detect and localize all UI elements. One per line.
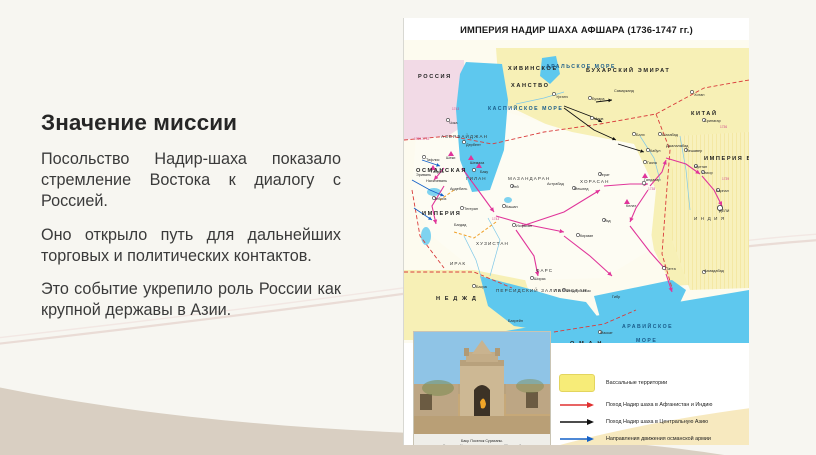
fire-temple-illustration (414, 332, 550, 434)
map-sea-label-0: КАСПИЙСКОЕ МОРЕ (488, 104, 563, 112)
map-city-label-5: Баку (480, 170, 488, 174)
map-region-label-2: ХОРАСАН (580, 179, 610, 184)
photo-caption-line-2: Комплекс Храма огнепоклонников – "Атешгя… (443, 444, 521, 445)
map-country-label-7: Н Е Д Ж Д (436, 296, 477, 302)
map-region-label-6: АЗЕРБАЙДЖАН (441, 132, 488, 139)
legend-key-vassal (559, 374, 599, 392)
legend-item-central-asia: Поход Надир шаха в Центральную Азию (559, 413, 749, 430)
map-country-label-6: ИМПЕРИЯ (422, 211, 461, 217)
map-city-label-15: Хотан (694, 93, 704, 97)
map-city-label-31: Астрабад (547, 182, 565, 186)
presentation-slide: Значение миссии Посольство Надир-шаха по… (0, 0, 816, 455)
map-city-label-42: Гибр (612, 295, 620, 299)
body-paragraph-3: Это событие укрепило роль России как кру… (41, 279, 341, 321)
map-date-label-4: 1739 (722, 177, 729, 181)
map-city-label-30: Мешхед (574, 187, 589, 191)
legend-key-central-asia (559, 418, 599, 426)
vassal-territory-swatch (559, 374, 595, 392)
map-date-label-1: 1735-1743 (414, 137, 429, 141)
legend-key-ottoman-army (559, 435, 599, 443)
map-region-label-3: ХУЗИСТАН (476, 241, 509, 246)
legend-item-ottoman-army: Направления движения османской армии (559, 430, 749, 445)
map-city-label-14: Мерв (594, 117, 603, 121)
map-city-label-1: Дербент (466, 143, 481, 147)
map-city-label-25: Гандахар (644, 178, 660, 182)
map-region-label-0: ГИЛАН (466, 176, 487, 181)
map-sea-label-1: АРАВИЙСКОЕ (622, 322, 673, 330)
map-region-label-9: И Н Д И Я (694, 216, 725, 221)
map-city-label-28: Келат (626, 204, 636, 208)
blue-arrow-icon (559, 435, 595, 443)
map-city-label-13: Бухара (592, 97, 605, 101)
map-country-label-8: О М А Н (570, 341, 603, 343)
map-country-label-9: ИМПЕРИЯ ВЕЛИКИХ МОГОЛОВ (704, 156, 749, 162)
ateshgah-photo: Баку. Поселок Сураханы. Комплекс Храма о… (413, 331, 551, 445)
map-city-label-44: Маскат (600, 331, 613, 335)
map-date-label-2: 1743 (492, 217, 499, 221)
map-city-label-10: Ардебиль (450, 187, 467, 191)
legend-item-afghan-india: Поход Надир шаха в Афганистан и Индию (559, 396, 749, 413)
map-canvas: РОССИЯХИВИНСКОЕХАНСТВОБУХАРСКИЙ ЭМИРАТКИ… (404, 40, 749, 343)
map-city-label-24: Лахор (702, 171, 713, 175)
map-city-label-22: Газна (647, 161, 658, 165)
map-city-label-18: Сринагар (704, 119, 721, 123)
map-city-label-27: ДЕЛИ (719, 209, 730, 213)
map-country-label-4: КИТАЙ (691, 109, 718, 117)
map-region-label-5: ФАРС (536, 268, 553, 273)
map-country-label-0: РОССИЯ (418, 74, 452, 80)
map-city-label-12: Самарканд (614, 89, 635, 93)
legend-label-ottoman-army: Направления движения османской армии (606, 436, 711, 442)
map-city-label-2: Тифлис (426, 158, 440, 162)
map-graphic: РОССИЯХИВИНСКОЕХАНСТВОБУХАРСКИЙ ЭМИРАТКИ… (404, 40, 749, 343)
map-city-label-3: Шеки (446, 156, 455, 160)
map-city-label-29: Герат (600, 173, 610, 177)
legend-label-central-asia: Поход Надир шаха в Центральную Азию (606, 419, 708, 425)
map-sea-label-2: МОРЕ (636, 338, 657, 343)
map-city-label-16: Балх (636, 133, 645, 137)
map-city-label-19: Кабул (650, 149, 660, 153)
map-city-label-46: Ахмадабад (704, 269, 725, 273)
map-sea-label-3: АРАЛЬСКОЕ МОРЕ (546, 64, 616, 70)
map-date-label-5: 1736 (720, 125, 727, 129)
map-city-label-43: Бахрейн (508, 319, 523, 323)
map-legend: Вассальные территории Поход Надир шаха в… (559, 370, 749, 445)
map-city-label-33: Тегеран (464, 207, 478, 211)
map-city-label-45: Татта (666, 267, 677, 271)
map-city-label-36: Багдад (454, 223, 467, 227)
map-city-label-35: Исфахан (516, 224, 532, 228)
map-date-label-3: 1738 (648, 187, 655, 191)
map-city-label-6: Гянджа (431, 170, 445, 174)
map-city-label-9: Тебриз (434, 197, 447, 201)
map-region-label-7: ПЕРСИДСКИЙ ЗАЛИВ (496, 286, 562, 293)
text-content-column: Значение миссии Посольство Надир-шаха по… (41, 110, 341, 321)
body-paragraph-1: Посольство Надир-шаха показало стремлени… (41, 149, 341, 213)
map-figure: ИМПЕРИЯ НАДИР ШАХА АФШАРА (1736-1747 гг.… (403, 18, 749, 445)
map-city-label-8: Эривань (416, 173, 431, 177)
map-city-label-34: Кашан (506, 205, 518, 209)
map-date-label-0: 1743 (452, 107, 459, 111)
map-city-label-41: Бендер Аббас (566, 289, 591, 293)
map-title: ИМПЕРИЯ НАДИР ШАХА АФШАРА (1736-1747 гг.… (404, 18, 749, 40)
map-city-label-0: Чока (449, 121, 458, 125)
legend-label-vassal: Вассальные территории (606, 380, 667, 386)
photo-caption: Баку. Поселок Сураханы. Комплекс Храма о… (414, 434, 550, 445)
black-arrow-icon (559, 418, 595, 426)
map-city-label-37: Кирман (580, 234, 593, 238)
body-paragraph-2: Оно открыло путь для дальнейших торговых… (41, 225, 341, 267)
map-country-label-2: ХАНСТВО (511, 83, 550, 89)
map-city-label-7: Нахичевань (426, 179, 447, 183)
map-city-label-39: Шираз (534, 277, 546, 281)
map-city-label-20: Джалалабад (666, 144, 689, 148)
map-city-label-26: Карнал (716, 189, 729, 193)
map-city-label-4: Шемаха (470, 161, 485, 165)
legend-label-afghan-india: Поход Надир шаха в Афганистан и Индию (606, 402, 712, 408)
map-city-label-11: Урганч (556, 95, 568, 99)
legend-item-vassal: Вассальные территории (559, 370, 749, 396)
map-city-label-23: Мултан (694, 165, 707, 169)
map-city-label-32: Рей (512, 185, 519, 189)
map-region-label-4: ИРАК (450, 261, 466, 266)
legend-key-afghan-india (559, 401, 599, 409)
map-city-label-17: Шахабад (662, 133, 679, 137)
map-city-label-40: Басра (476, 285, 488, 289)
map-city-label-38: Язд (604, 219, 611, 223)
map-region-label-1: МАЗАНДАРАН (508, 176, 550, 181)
map-city-label-21: Пешавер (686, 149, 702, 153)
red-arrow-icon (559, 401, 595, 409)
page-title: Значение миссии (41, 110, 341, 136)
